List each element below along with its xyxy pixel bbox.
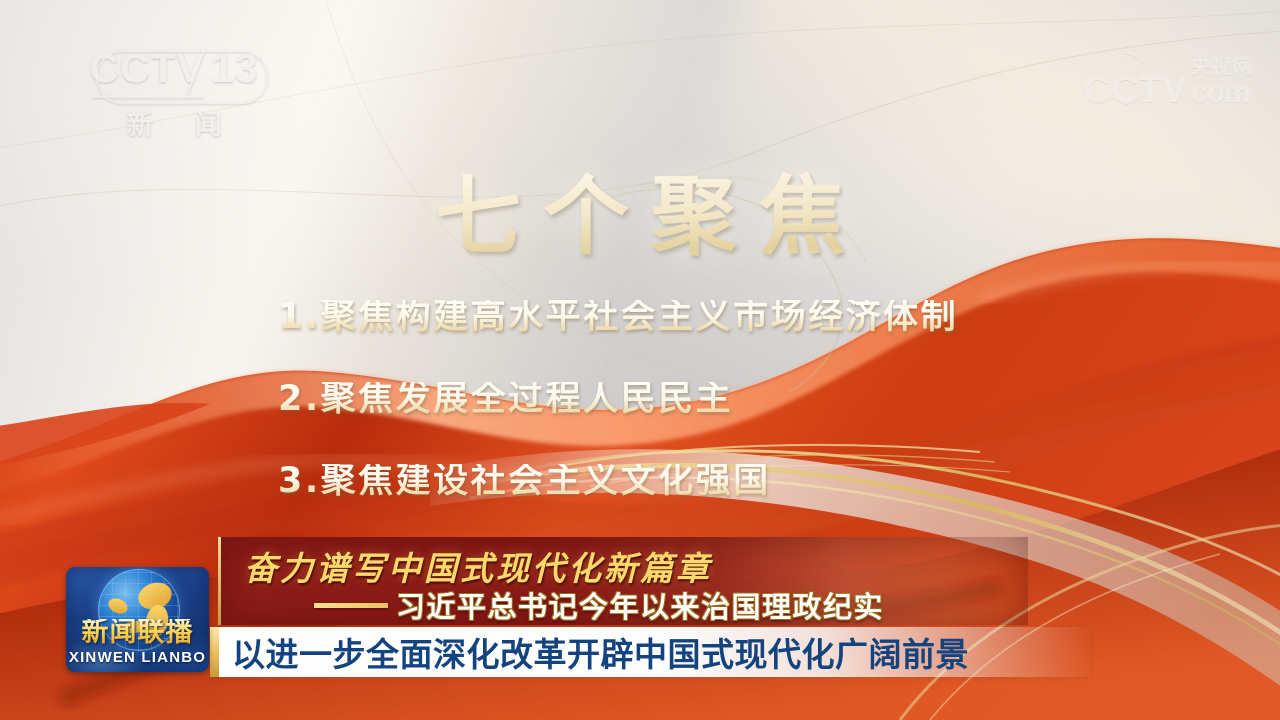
xinwen-lianbo-logo: 新闻联播 XINWEN LIANBO (66, 567, 209, 672)
cctv13-logo-underline (92, 96, 204, 98)
banner-subtitle-row: 习近平总书记今年以来治国理政纪实 (314, 584, 884, 626)
list-item: 1.聚焦构建高水平社会主义市场经济体制 (278, 300, 1258, 335)
watermark-cn-text: 央视网 (1191, 58, 1254, 77)
lower-third-banner: 奋力谱写中国式现代化新篇章 习近平总书记今年以来治国理政纪实 (218, 537, 1028, 625)
graphic-list: 1.聚焦构建高水平社会主义市场经济体制 2.聚焦发展全过程人民民主 3.聚焦建设… (278, 300, 1258, 546)
channel-name-cn: 新 闻 (68, 103, 280, 142)
list-item: 2.聚焦发展全过程人民民主 (278, 382, 1258, 417)
program-name-cn: 新闻联播 (66, 619, 209, 646)
program-name-en: XINWEN LIANBO (66, 649, 209, 666)
graphic-title: 七个聚焦 (0, 146, 1280, 271)
cctv-com-watermark: CCTV 央视网 com (1084, 58, 1254, 108)
watermark-com-text: com (1191, 78, 1250, 108)
broadcast-frame: CCTV 13 新 闻 CCTV 央视网 com 七个聚焦 1.聚焦构建高水平社… (0, 0, 1280, 720)
headline-bar: 以进一步全面深化改革开辟中国式现代化广阔前景 (210, 627, 1090, 677)
banner-title: 奋力谱写中国式现代化新篇章 (244, 542, 712, 590)
watermark-right-stack: 央视网 com (1191, 58, 1254, 108)
headline-text: 以进一步全面深化改革开辟中国式现代化广阔前景 (232, 628, 969, 676)
banner-subtitle: 习近平总书记今年以来治国理政纪实 (396, 584, 884, 626)
em-dash-rule (314, 603, 388, 608)
cctv13-channel-logo: CCTV 13 新 闻 (68, 48, 280, 140)
list-item: 3.聚焦建设社会主义文化强国 (278, 464, 1258, 499)
